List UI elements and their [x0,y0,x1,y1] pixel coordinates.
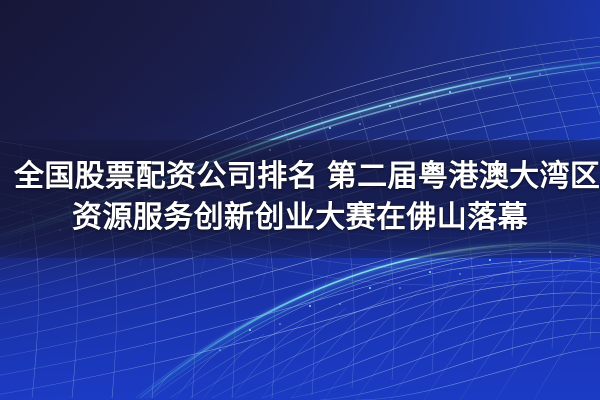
page-title-line-2: 资源服务创新创业大赛在佛山落幕 [14,197,586,238]
page-title: 全国股票配资公司排名 第二届粤港澳大湾区人力 资源服务创新创业大赛在佛山落幕 [0,156,600,238]
page-title-line-1: 全国股票配资公司排名 第二届粤港澳大湾区人力 [14,156,586,197]
news-banner: 全国股票配资公司排名 第二届粤港澳大湾区人力 资源服务创新创业大赛在佛山落幕 [0,0,600,400]
